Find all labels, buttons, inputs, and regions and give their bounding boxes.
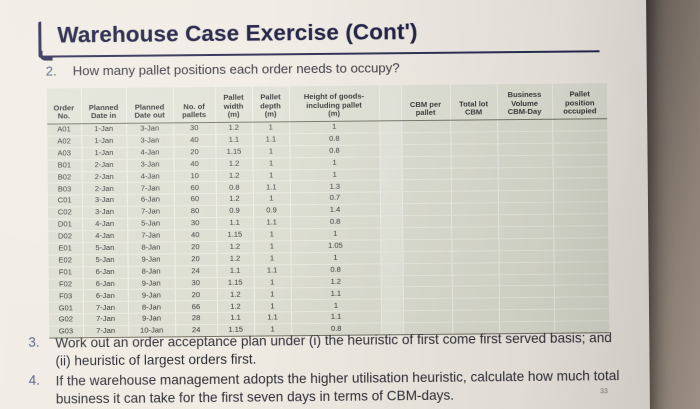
cell-pallet-w: 1.1 — [216, 217, 253, 229]
cell-no-pallets: 10 — [174, 170, 216, 182]
cell-date-in: 3-Jan — [82, 207, 127, 219]
cell-date-in: 4-Jan — [82, 218, 127, 230]
cell-spacer — [379, 133, 401, 145]
cell-date-out: 8-Jan — [128, 301, 175, 313]
col-header-height-of-goods: Height of goods- including pallet (m) — [289, 85, 379, 121]
cell-pallet-d: 1 — [254, 276, 291, 288]
cell-date-out: 7-Jan — [127, 182, 174, 194]
cell-cbm-pallet — [401, 144, 450, 156]
cell-order-no: F01 — [49, 266, 83, 278]
cell-spacer — [381, 275, 403, 287]
cell-order-no: G02 — [49, 314, 83, 326]
cell-biz-volume — [498, 214, 553, 226]
col-header-cbm-per-pallet: CBM per pallet — [401, 85, 450, 121]
cell-order-no: C02 — [48, 207, 82, 219]
cell-total-cbm — [452, 310, 499, 322]
orders-table: Order No. Planned Date in Planned Date o… — [47, 83, 609, 338]
cell-pallet-w: 1.1 — [217, 312, 254, 324]
cell-cbm-pallet — [402, 227, 451, 239]
cell-height: 1.4 — [290, 204, 380, 217]
cell-date-in: 5-Jan — [82, 254, 127, 266]
cell-height: 1.05 — [290, 240, 380, 253]
cell-cbm-pallet — [402, 239, 451, 251]
cell-height: 1.2 — [291, 275, 381, 288]
cell-pallet-w: 1.2 — [217, 300, 254, 312]
cell-pallet-pos — [554, 285, 609, 297]
cell-pallet-w: 1.2 — [216, 253, 253, 265]
question-3-number: 3. — [28, 335, 40, 352]
cell-biz-volume — [499, 298, 554, 310]
col-header-no-of-pallets: No. of pallets — [173, 87, 215, 123]
cell-date-in: 4-Jan — [82, 230, 127, 242]
cell-cbm-pallet — [402, 168, 451, 180]
cell-cbm-pallet — [403, 310, 452, 322]
col-header-pallet-position-occupied: Pallet position occupied — [552, 83, 607, 119]
col-header-business-volume: Business Volume CBM-Day — [497, 84, 552, 120]
cell-total-cbm — [452, 298, 499, 310]
col-header-pallet-width: Pallet width (m) — [215, 87, 252, 123]
cell-order-no: A01 — [47, 124, 81, 136]
cell-order-no: A03 — [47, 148, 81, 160]
cell-date-out: 8-Jan — [128, 266, 175, 278]
cell-no-pallets: 60 — [174, 182, 216, 194]
cell-order-no: C01 — [48, 195, 82, 207]
cell-spacer — [380, 216, 402, 228]
cell-cbm-pallet — [401, 120, 450, 132]
cell-biz-volume — [498, 202, 553, 214]
title-bracket-horizontal — [40, 50, 600, 57]
cell-pallet-d: 1.1 — [254, 312, 291, 324]
cell-spacer — [380, 251, 402, 263]
cell-height: 0.8 — [289, 145, 379, 158]
col-header-order-no: Order No. — [47, 88, 81, 124]
cell-total-cbm — [451, 251, 498, 263]
cell-biz-volume — [499, 274, 554, 286]
cell-no-pallets: 66 — [175, 301, 217, 313]
question-4-number: 4. — [29, 373, 41, 390]
question-2-text: How many pallet positions each order nee… — [73, 60, 400, 80]
cell-pallet-pos — [552, 119, 607, 131]
cell-height: 0.8 — [291, 264, 381, 277]
cell-pallet-w: 0.9 — [216, 205, 253, 217]
cell-pallet-d: 1 — [253, 193, 290, 205]
cell-cbm-pallet — [403, 287, 452, 299]
cell-order-no: A02 — [47, 136, 81, 148]
cell-pallet-pos — [552, 142, 607, 154]
cell-pallet-w: 1.1 — [217, 265, 254, 277]
cell-total-cbm — [452, 274, 499, 286]
cell-spacer — [381, 311, 403, 323]
cell-height: 1 — [291, 299, 381, 312]
cell-date-out: 8-Jan — [127, 242, 174, 254]
cell-date-in: 6-Jan — [83, 290, 128, 302]
cell-height: 1 — [290, 228, 380, 241]
title-block: Warehouse Case Exercise (Cont') — [38, 14, 598, 61]
cell-pallet-d: 1 — [253, 241, 290, 253]
cell-total-cbm — [451, 227, 498, 239]
cell-date-out: 6-Jan — [127, 194, 174, 206]
cell-biz-volume — [498, 179, 553, 191]
cell-pallet-w: 1.2 — [215, 122, 252, 134]
cell-pallet-w: 0.8 — [216, 182, 253, 194]
cell-height: 1.3 — [290, 180, 380, 193]
cell-pallet-w: 1.2 — [216, 158, 253, 170]
cell-pallet-pos — [553, 178, 608, 190]
cell-biz-volume — [499, 286, 554, 298]
cell-biz-volume — [498, 226, 553, 238]
table-body: A011-Jan3-Jan301.211A021-Jan3-Jan401.11.… — [47, 119, 609, 338]
cell-date-in: 6-Jan — [83, 266, 128, 278]
cell-pallet-w: 1.2 — [217, 289, 254, 301]
cell-total-cbm — [451, 215, 498, 227]
cell-spacer — [381, 287, 403, 299]
cell-date-in: 7-Jan — [83, 302, 128, 314]
cell-order-no: D02 — [48, 231, 82, 243]
cell-height: 1 — [290, 157, 380, 170]
cell-pallet-d: 1 — [253, 229, 290, 241]
orders-table-container: Order No. Planned Date in Planned Date o… — [47, 83, 609, 338]
cell-date-in: 1-Jan — [81, 123, 126, 135]
cell-biz-volume — [499, 309, 554, 321]
cell-date-in: 7-Jan — [83, 314, 128, 326]
cell-biz-volume — [497, 143, 552, 155]
cell-date-out: 9-Jan — [128, 289, 175, 301]
cell-pallet-pos — [553, 249, 608, 261]
cell-order-no: B01 — [48, 159, 82, 171]
cell-date-out: 7-Jan — [127, 206, 174, 218]
cell-biz-volume — [497, 131, 552, 143]
cell-date-out: 4-Jan — [127, 170, 174, 182]
page-title: Warehouse Case Exercise (Cont') — [57, 19, 417, 48]
cell-height: 0.8 — [289, 133, 379, 146]
cell-order-no: E02 — [48, 255, 82, 267]
cell-order-no: D01 — [48, 219, 82, 231]
cell-date-in: 1-Jan — [81, 147, 126, 159]
cell-cbm-pallet — [402, 156, 451, 168]
cell-biz-volume — [498, 250, 553, 262]
cell-no-pallets: 24 — [175, 265, 217, 277]
col-header-pallet-depth: Pallet depth (m) — [252, 86, 289, 122]
cell-date-in: 2-Jan — [82, 159, 127, 171]
cell-biz-volume — [499, 262, 554, 274]
cell-biz-volume — [497, 119, 552, 131]
cell-total-cbm — [452, 286, 499, 298]
table-header: Order No. Planned Date in Planned Date o… — [47, 83, 607, 124]
cell-pallet-pos — [554, 261, 609, 273]
cell-date-out: 7-Jan — [127, 230, 174, 242]
cell-date-in: 2-Jan — [82, 183, 127, 195]
cell-total-cbm — [452, 262, 499, 274]
cell-spacer — [380, 156, 402, 168]
cell-spacer — [380, 228, 402, 240]
cell-cbm-pallet — [402, 215, 451, 227]
cell-pallet-w: 1.2 — [216, 241, 253, 253]
cell-date-out: 4-Jan — [126, 147, 173, 159]
cell-pallet-d: 1 — [252, 122, 289, 134]
cell-date-out: 5-Jan — [127, 218, 174, 230]
cell-no-pallets: 20 — [174, 253, 216, 265]
cell-total-cbm — [451, 191, 498, 203]
cell-cbm-pallet — [402, 203, 451, 215]
cell-pallet-w: 1.15 — [216, 229, 253, 241]
cell-total-cbm — [450, 132, 497, 144]
presentation-slide: Warehouse Case Exercise (Cont') 2. How m… — [0, 0, 650, 409]
cell-cbm-pallet — [403, 275, 452, 287]
cell-biz-volume — [498, 191, 553, 203]
cell-date-in: 2-Jan — [82, 171, 127, 183]
cell-pallet-d: 1 — [254, 288, 291, 300]
cell-order-no: G01 — [49, 302, 83, 314]
cell-pallet-pos — [554, 297, 609, 309]
question-2-number: 2. — [46, 63, 57, 80]
cell-spacer — [381, 263, 403, 275]
cell-pallet-w: 1.15 — [215, 146, 252, 158]
cell-pallet-d: 1.1 — [252, 134, 289, 146]
cell-order-no: B02 — [48, 171, 82, 183]
cell-no-pallets: 40 — [173, 134, 215, 146]
cell-pallet-pos — [552, 131, 607, 143]
cell-no-pallets: 20 — [173, 146, 215, 158]
cell-pallet-d: 1 — [253, 253, 290, 265]
cell-height: 1 — [290, 168, 380, 181]
cell-pallet-pos — [553, 226, 608, 238]
cell-height: 0.8 — [290, 216, 380, 229]
cell-pallet-pos — [553, 154, 608, 166]
cell-pallet-d: 0.9 — [253, 205, 290, 217]
cell-total-cbm — [451, 203, 498, 215]
cell-pallet-d: 1.1 — [253, 181, 290, 193]
cell-pallet-d: 1 — [252, 146, 289, 158]
cell-pallet-d: 1.1 — [253, 217, 290, 229]
cell-pallet-w: 1.2 — [216, 193, 253, 205]
cell-pallet-w: 1.2 — [216, 170, 253, 182]
col-header-planned-date-out: Planned Date out — [126, 87, 173, 123]
cell-height: 1 — [289, 121, 379, 134]
cell-cbm-pallet — [403, 299, 452, 311]
cell-height: 1 — [290, 252, 380, 265]
cell-pallet-d: 1 — [254, 300, 291, 312]
cell-order-no: F03 — [49, 290, 83, 302]
cell-no-pallets: 30 — [173, 122, 215, 134]
cell-pallet-w: 1.15 — [217, 277, 254, 289]
cell-height: 1.1 — [291, 311, 381, 324]
cell-order-no: E01 — [48, 243, 82, 255]
cell-date-in: 5-Jan — [82, 242, 127, 254]
cell-pallet-pos — [554, 309, 609, 321]
table-header-row: Order No. Planned Date in Planned Date o… — [47, 83, 607, 124]
col-header-total-lot-cbm: Total lot CBM — [450, 84, 497, 120]
cell-date-out: 3-Jan — [126, 135, 173, 147]
cell-date-in: 1-Jan — [81, 135, 126, 147]
cell-date-out: 9-Jan — [127, 254, 174, 266]
cell-no-pallets: 40 — [174, 158, 216, 170]
cell-spacer — [380, 240, 402, 252]
cell-total-cbm — [451, 167, 498, 179]
cell-order-no: B03 — [48, 183, 82, 195]
cell-order-no: F02 — [49, 278, 83, 290]
cell-no-pallets: 20 — [174, 241, 216, 253]
col-header-spacer — [379, 85, 401, 121]
cell-total-cbm — [451, 179, 498, 191]
cell-pallet-pos — [553, 190, 608, 202]
cell-date-in: 6-Jan — [83, 278, 128, 290]
question-4-text: If the warehouse management adopts the h… — [56, 367, 626, 408]
cell-cbm-pallet — [403, 263, 452, 275]
cell-cbm-pallet — [402, 251, 451, 263]
cell-date-out: 3-Jan — [127, 159, 174, 171]
col-header-planned-date-in: Planned Date in — [81, 88, 126, 124]
cell-pallet-d: 1.1 — [254, 264, 291, 276]
cell-no-pallets: 30 — [175, 277, 217, 289]
slide-photo: ——————— Warehouse Case Exercise (Cont') … — [0, 0, 700, 409]
cell-biz-volume — [498, 155, 553, 167]
cell-pallet-pos — [553, 202, 608, 214]
cell-date-out: 3-Jan — [126, 123, 173, 135]
cell-date-out: 9-Jan — [128, 277, 175, 289]
cell-biz-volume — [498, 167, 553, 179]
cell-pallet-d: 1 — [253, 157, 290, 169]
cell-no-pallets: 30 — [174, 218, 216, 230]
cell-total-cbm — [451, 155, 498, 167]
cell-date-in: 3-Jan — [82, 195, 127, 207]
cell-height: 1.1 — [291, 287, 381, 300]
cell-height: 0.7 — [290, 192, 380, 205]
cell-pallet-pos — [554, 273, 609, 285]
cell-pallet-pos — [553, 166, 608, 178]
cell-total-cbm — [450, 144, 497, 156]
cell-pallet-pos — [553, 214, 608, 226]
cell-date-out: 9-Jan — [128, 313, 175, 325]
cell-pallet-w: 1.1 — [215, 134, 252, 146]
slide-number: 33 — [600, 388, 608, 395]
cell-spacer — [380, 180, 402, 192]
cell-no-pallets: 28 — [175, 313, 217, 325]
cell-spacer — [379, 144, 401, 156]
cell-pallet-pos — [553, 238, 608, 250]
cell-total-cbm — [450, 120, 497, 132]
cell-no-pallets: 80 — [174, 206, 216, 218]
cell-spacer — [381, 299, 403, 311]
cell-spacer — [380, 168, 402, 180]
cell-biz-volume — [498, 238, 553, 250]
cell-spacer — [380, 192, 402, 204]
cell-total-cbm — [451, 239, 498, 251]
cell-no-pallets: 20 — [175, 289, 217, 301]
cell-cbm-pallet — [402, 192, 451, 204]
cell-pallet-d: 1 — [253, 169, 290, 181]
cell-no-pallets: 60 — [174, 194, 216, 206]
question-3-text: Work out an order acceptance plan under … — [55, 329, 615, 370]
cell-cbm-pallet — [401, 132, 450, 144]
cell-spacer — [380, 204, 402, 216]
cell-no-pallets: 40 — [174, 229, 216, 241]
cell-spacer — [379, 121, 401, 133]
cell-cbm-pallet — [402, 180, 451, 192]
